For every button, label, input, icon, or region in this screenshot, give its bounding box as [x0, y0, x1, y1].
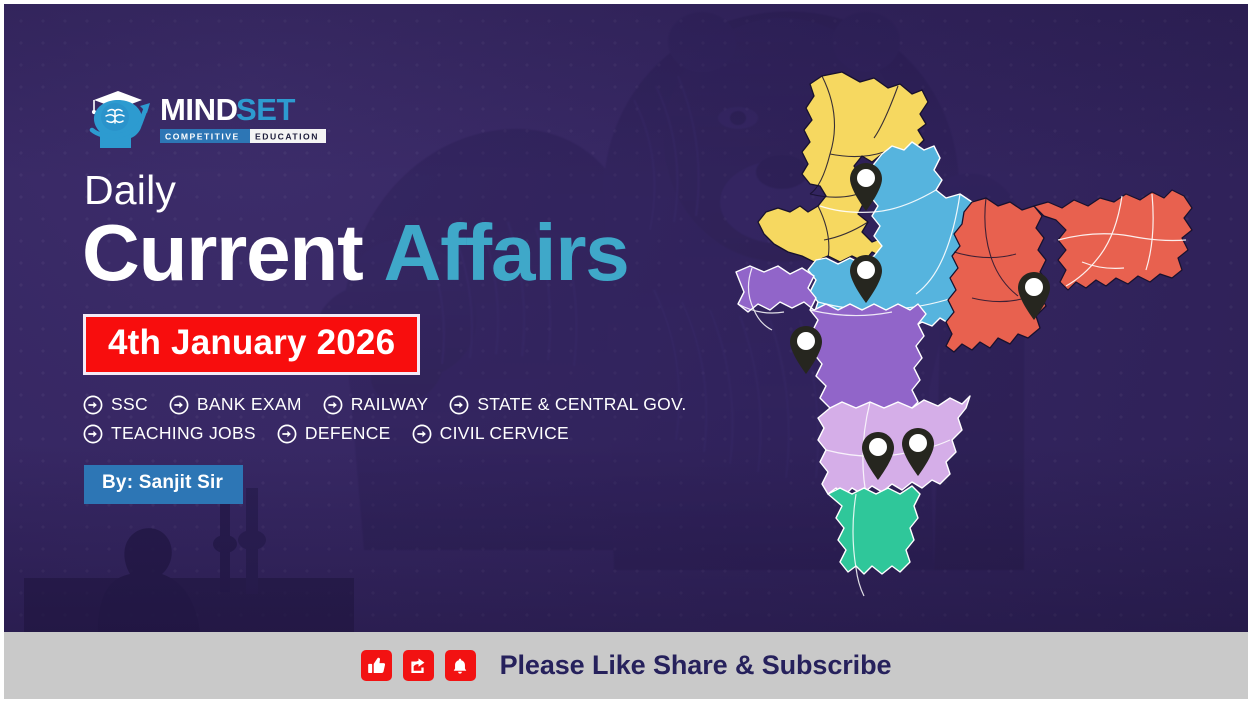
share-button[interactable] [403, 650, 434, 681]
india-map[interactable] [722, 66, 1222, 611]
logo-tagline-education: EDUCATION [255, 132, 319, 142]
map-region-south[interactable] [828, 486, 920, 596]
exam-tag-label: STATE & CENTRAL GOV. [477, 396, 686, 414]
date-banner: 4th January 2026 [83, 314, 420, 375]
bell-icon [451, 657, 469, 675]
author-badge: By: Sanjit Sir [84, 465, 243, 504]
exam-tags-list: SSC BANK EXAM RAILWAY [83, 395, 723, 453]
arrow-right-circle-icon [277, 424, 297, 444]
map-pin[interactable] [790, 326, 822, 374]
arrow-right-circle-icon [83, 424, 103, 444]
exam-tag-label: DEFENCE [305, 425, 391, 443]
headline-word-affairs: Affairs [384, 208, 629, 297]
exam-tag-teaching-jobs[interactable]: TEACHING JOBS [83, 424, 256, 444]
poster-stage: MIND SET COMPETITIVE EDUCATION Daily Cur… [4, 4, 1248, 699]
exam-tags-row-2: TEACHING JOBS DEFENCE CIVIL CERVICE [83, 424, 723, 444]
exam-tags-row-1: SSC BANK EXAM RAILWAY [83, 395, 723, 415]
mindset-logo[interactable]: MIND SET COMPETITIVE EDUCATION [84, 86, 334, 152]
footer-bar: Please Like Share & Subscribe [4, 632, 1248, 699]
exam-tag-label: SSC [111, 396, 148, 414]
arrow-right-circle-icon [323, 395, 343, 415]
exam-tag-label: CIVIL CERVICE [440, 425, 569, 443]
author-text: By: Sanjit Sir [102, 473, 223, 494]
share-icon [409, 656, 428, 675]
arrow-right-circle-icon [83, 395, 103, 415]
page-title: Current Affairs [82, 212, 629, 294]
social-buttons [361, 650, 476, 681]
map-region-east-northeast[interactable] [946, 190, 1192, 352]
arrow-right-circle-icon [449, 395, 469, 415]
kicker-text: Daily [84, 170, 176, 211]
date-text: 4th January 2026 [108, 324, 395, 363]
arrow-right-circle-icon [169, 395, 189, 415]
logo-text-set: SET [236, 92, 296, 127]
footer-text: Please Like Share & Subscribe [500, 652, 892, 679]
exam-tag-state-central-gov[interactable]: STATE & CENTRAL GOV. [449, 395, 686, 415]
footer-content: Please Like Share & Subscribe [361, 650, 892, 681]
exam-tag-label: TEACHING JOBS [111, 425, 256, 443]
exam-tag-railway[interactable]: RAILWAY [323, 395, 429, 415]
exam-tag-label: RAILWAY [351, 396, 429, 414]
exam-tag-defence[interactable]: DEFENCE [277, 424, 391, 444]
exam-tag-label: BANK EXAM [197, 396, 302, 414]
thumbs-up-icon [367, 656, 386, 675]
poster: MIND SET COMPETITIVE EDUCATION Daily Cur… [0, 0, 1252, 703]
logo-text-mind: MIND [160, 92, 238, 127]
exam-tag-bank-exam[interactable]: BANK EXAM [169, 395, 302, 415]
arrow-right-circle-icon [412, 424, 432, 444]
exam-tag-ssc[interactable]: SSC [83, 395, 148, 415]
exam-tag-civil-cervice[interactable]: CIVIL CERVICE [412, 424, 569, 444]
notification-bell-button[interactable] [445, 650, 476, 681]
logo-tagline-competitive: COMPETITIVE [165, 132, 240, 142]
headline-word-current: Current [82, 208, 363, 297]
like-button[interactable] [361, 650, 392, 681]
